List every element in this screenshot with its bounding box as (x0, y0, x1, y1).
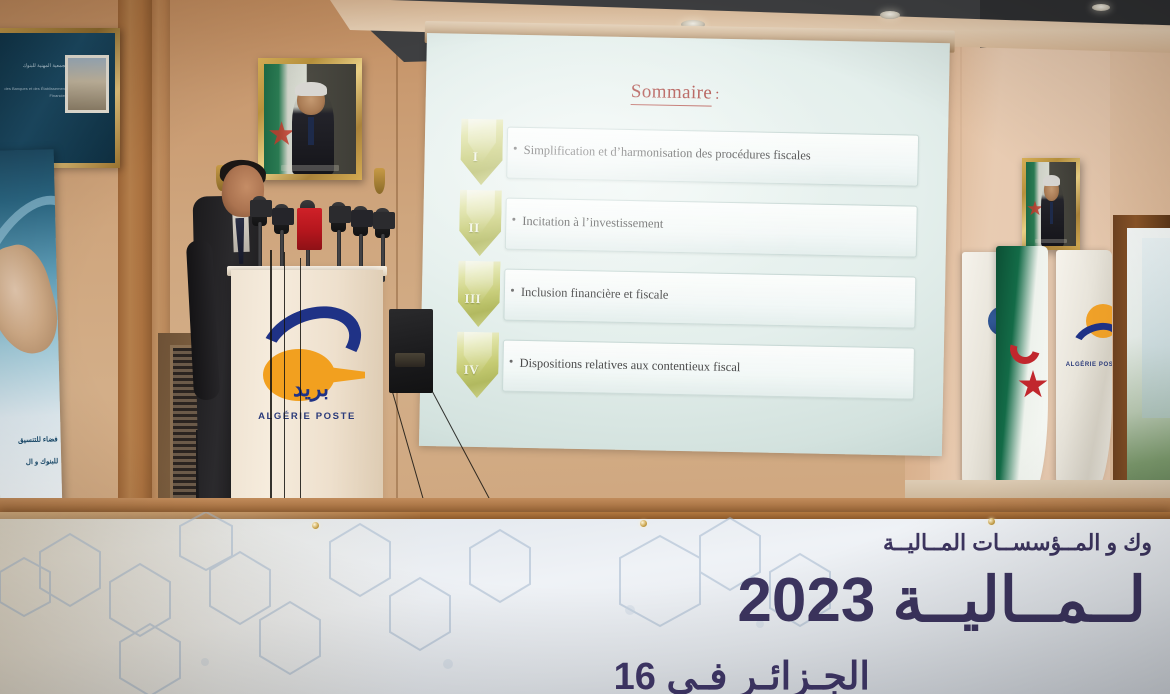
device-panel (395, 353, 425, 367)
cable (284, 252, 285, 518)
artwork-latin-caption: des Banques et des Établissements Financ… (2, 85, 68, 99)
slide-item-text: Inclusion financière et fiscale (521, 285, 669, 303)
photo-scene: الجمعية المهنية للبنوك des Banques et de… (0, 0, 1170, 694)
slide-items-list: I Simplification et d’harmonisation des … (450, 119, 925, 412)
mic-flag-red (297, 208, 322, 250)
bullet-dot-icon (511, 289, 514, 292)
slide-item-text: Incitation à l’investissement (522, 214, 663, 232)
projection-screen: Sommaire: I Simplification et d’harmonis… (419, 33, 950, 456)
slide-item-row: I Simplification et d’harmonisation des … (454, 119, 925, 199)
podium-logo-arabic: بريد (263, 375, 359, 405)
mic-flag (373, 212, 395, 229)
rollup-banner: فضاء للتنسيق للبنوك و ال (0, 149, 62, 510)
slide-title: Sommaire: (631, 81, 720, 105)
event-banner: وك و المــؤسســات المــاليــة لــمــاليـ… (0, 512, 1170, 694)
rollup-banner-line1: فضاء للتنسيق (0, 435, 61, 445)
algerie-poste-flag: ALGÉRIE POSTE (1056, 250, 1112, 498)
cable (300, 258, 301, 520)
door-glass-panel (1142, 238, 1170, 418)
presidential-portrait-right (1022, 158, 1080, 250)
podium: بريد ALGÉRIE POSTE (231, 270, 383, 518)
artwork-arabic-caption: الجمعية المهنية للبنوك (2, 63, 68, 70)
bullet-dot-icon (512, 218, 515, 221)
rollup-banner-line2: للبنوك و ال (0, 457, 61, 467)
slide-title-text: Sommaire (631, 81, 713, 107)
downlight-icon (880, 11, 900, 19)
slide-item-text: Simplification et d’harmonisation des pr… (524, 143, 811, 164)
downlight-icon (1092, 4, 1110, 11)
banner-grommet (312, 522, 319, 529)
slide-item-numeral: IV (450, 362, 492, 379)
postage-stamp-image (65, 55, 109, 113)
mic-flag (250, 200, 272, 217)
slide-item-box: Inclusion financière et fiscale (503, 269, 916, 329)
bullet-dot-icon (510, 360, 513, 363)
presentation-slide: Sommaire: I Simplification et d’harmonis… (419, 33, 950, 456)
wall-pilaster-left (118, 0, 152, 520)
slide-item-numeral: II (453, 220, 495, 237)
wall-sconce (374, 168, 385, 194)
algeria-flag (996, 246, 1048, 502)
poste-wordmark: ALGÉRIE POSTE (1064, 362, 1112, 368)
slide-item-box: Dispositions relatives aux contentieux f… (502, 340, 915, 400)
podium-logo: بريد ALGÉRIE POSTE (245, 305, 369, 435)
banner-line-1: وك و المــؤسســات المــاليــة (883, 530, 1152, 556)
slide-item-row: III Inclusion financière et fiscale (451, 261, 922, 341)
mic-flag (272, 208, 294, 225)
cable (270, 250, 272, 520)
presidential-portrait-center (258, 58, 362, 180)
slide-item-box: Incitation à l’investissement (505, 198, 918, 258)
slide-item-numeral: I (454, 149, 496, 166)
podium-logo-wordmark: ALGÉRIE POSTE (245, 411, 369, 422)
slide-item-row: II Incitation à l’investissement (453, 190, 924, 270)
bullet-dot-icon (514, 147, 517, 150)
framed-stamp-artwork: الجمعية المهنية للبنوك des Banques et de… (0, 28, 120, 168)
mic-flag (329, 206, 351, 223)
slide-title-colon: : (715, 87, 720, 103)
crescent-icon (1005, 329, 1046, 370)
wall-seam-1 (396, 0, 398, 520)
slide-item-row: IV Dispositions relatives aux contentieu… (450, 332, 921, 412)
slide-item-numeral: III (452, 291, 494, 308)
star-icon (1018, 370, 1048, 400)
mic-flag (351, 210, 373, 227)
banner-line-3: الجـزائـر فـي 16 (614, 654, 870, 694)
slide-item-box: Simplification et d’harmonisation des pr… (506, 127, 919, 187)
wall-mounted-device[interactable] (389, 309, 433, 393)
slide-item-text: Dispositions relatives aux contentieux f… (519, 356, 740, 375)
banner-grommet (640, 520, 647, 527)
banner-line-2: لــمــاليــة 2023 (737, 564, 1146, 638)
banner-grommet (988, 518, 995, 525)
